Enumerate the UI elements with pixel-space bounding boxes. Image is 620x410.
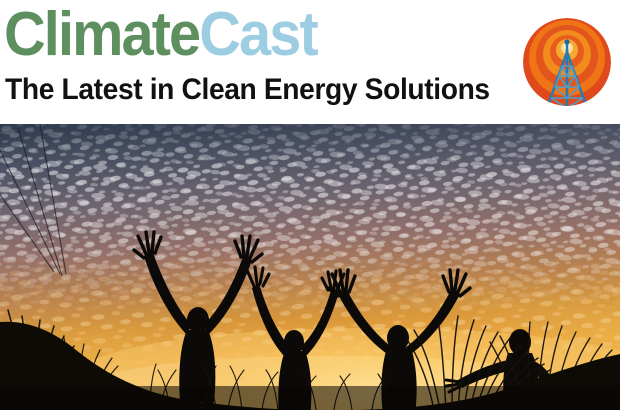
wordmark-climate: Climate [4,0,199,69]
masthead: ClimateCast The Latest in Clean Energy S… [0,0,620,124]
wordmark-cast: Cast [199,0,317,69]
climatecast-banner: ClimateCast The Latest in Clean Energy S… [0,0,620,410]
hero-photo [0,124,620,410]
wordmark-logo: ClimateCast [4,4,317,66]
tagline: The Latest in Clean Energy Solutions [5,74,490,106]
broadcast-tower-icon [519,12,615,112]
